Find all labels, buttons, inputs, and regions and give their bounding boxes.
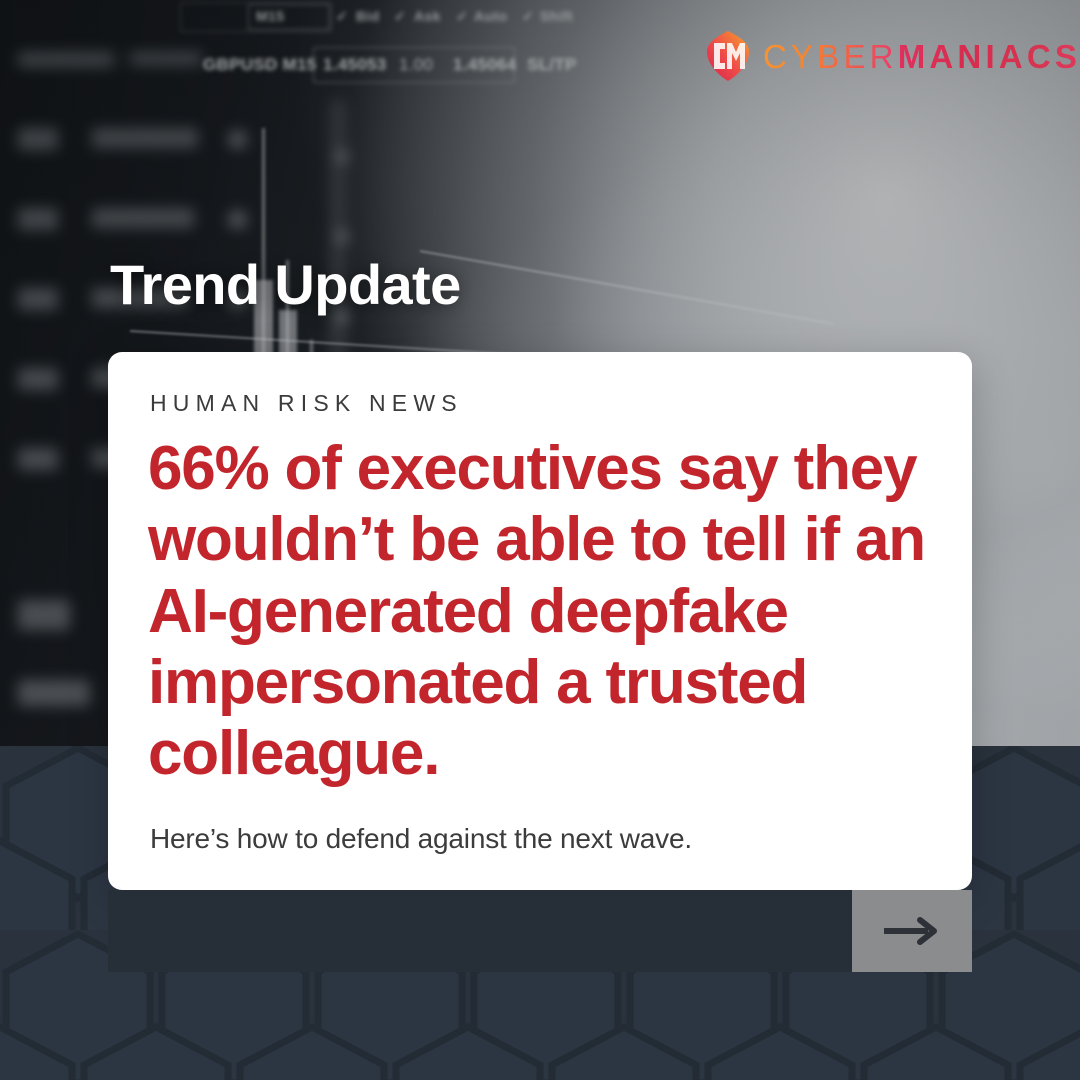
cm-shield-icon <box>705 30 751 82</box>
hero-kicker-title: Trend Update <box>110 256 461 315</box>
next-slide-button[interactable] <box>852 890 972 972</box>
card-eyebrow-label: HUMAN RISK NEWS <box>150 390 928 417</box>
news-card: HUMAN RISK NEWS 66% of executives say th… <box>108 352 972 890</box>
card-headline: 66% of executives say they wouldn’t be a… <box>148 433 928 789</box>
poster-canvas: M15 ✓ Bid ✓ Ask ✓ Auto ✓ Shift GBPUSD M1… <box>0 0 1080 1080</box>
footer-bar <box>108 890 972 972</box>
logo-wordmark: CYBERMANIACS <box>763 40 1080 73</box>
cybermaniacs-logo[interactable]: CYBERMANIACS <box>705 30 1080 82</box>
logo-word-cyber: CYBER <box>763 38 898 75</box>
card-subline: Here’s how to defend against the next wa… <box>150 823 928 855</box>
arrow-right-icon <box>880 914 944 948</box>
logo-word-maniacs: MANIACS <box>898 38 1080 75</box>
